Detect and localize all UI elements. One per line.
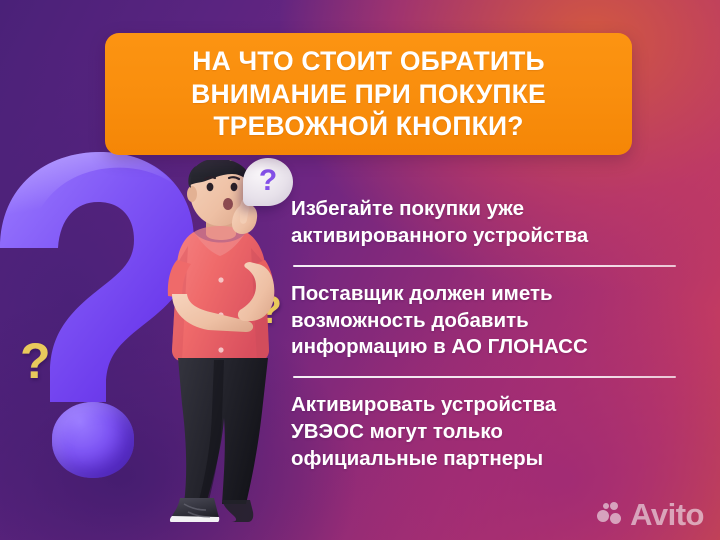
- list-item: Активировать устройства УВЭОС могут толь…: [291, 392, 676, 473]
- list-item: Избегайте покупки уже активированного ус…: [291, 196, 676, 250]
- list-divider: [293, 376, 676, 378]
- thinking-person-illustration: [150, 160, 300, 522]
- bubble-question-mark-icon: ?: [243, 158, 293, 206]
- heading-panel: НА ЧТО СТОИТ ОБРАТИТЬ ВНИМАНИЕ ПРИ ПОКУП…: [105, 33, 632, 155]
- avito-logo-icon: [597, 502, 623, 527]
- gold-question-mark-left-icon: ?: [20, 336, 51, 386]
- heading-title: НА ЧТО СТОИТ ОБРАТИТЬ ВНИМАНИЕ ПРИ ПОКУП…: [175, 45, 562, 144]
- poster-canvas: ? ?: [0, 0, 720, 540]
- speech-bubble: ?: [243, 158, 293, 206]
- list-item: Поставщик должен иметь возможность добав…: [291, 281, 676, 362]
- avito-watermark: Avito: [597, 499, 704, 530]
- large-question-mark-dot: [52, 402, 134, 478]
- list-divider: [293, 265, 676, 267]
- avito-wordmark: Avito: [630, 499, 704, 530]
- advice-list: Избегайте покупки уже активированного ус…: [291, 196, 676, 473]
